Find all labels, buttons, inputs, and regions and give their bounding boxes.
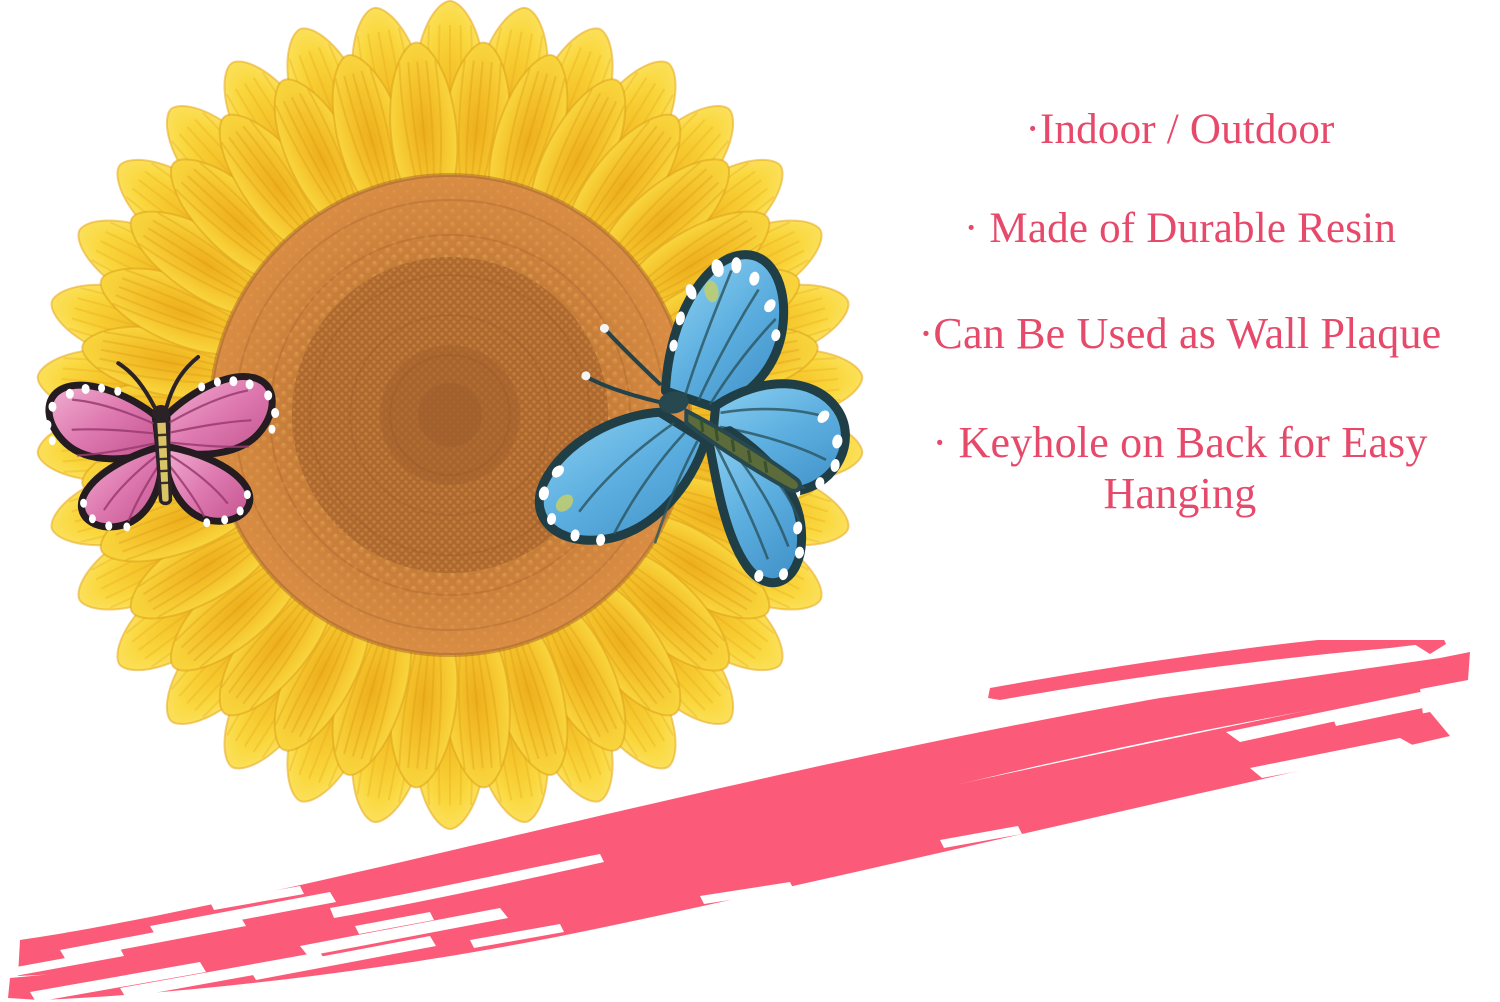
marketing-image-canvas: ·Indoor / Outdoor · Made of Durable Resi…	[0, 0, 1500, 1002]
sunflower-seed-center	[210, 175, 690, 655]
pink-brush-stroke-decoration	[0, 640, 1500, 1002]
feature-bullet-list: ·Indoor / Outdoor · Made of Durable Resi…	[860, 96, 1500, 519]
feature-item-durable-resin: · Made of Durable Resin	[860, 207, 1500, 250]
feature-item-indoor-outdoor: ·Indoor / Outdoor	[860, 108, 1500, 151]
feature-item-wall-plaque: ·Can Be Used as Wall Plaque	[860, 312, 1500, 356]
feature-item-keyhole-hanging: · Keyhole on Back for Easy Hanging	[860, 418, 1500, 519]
